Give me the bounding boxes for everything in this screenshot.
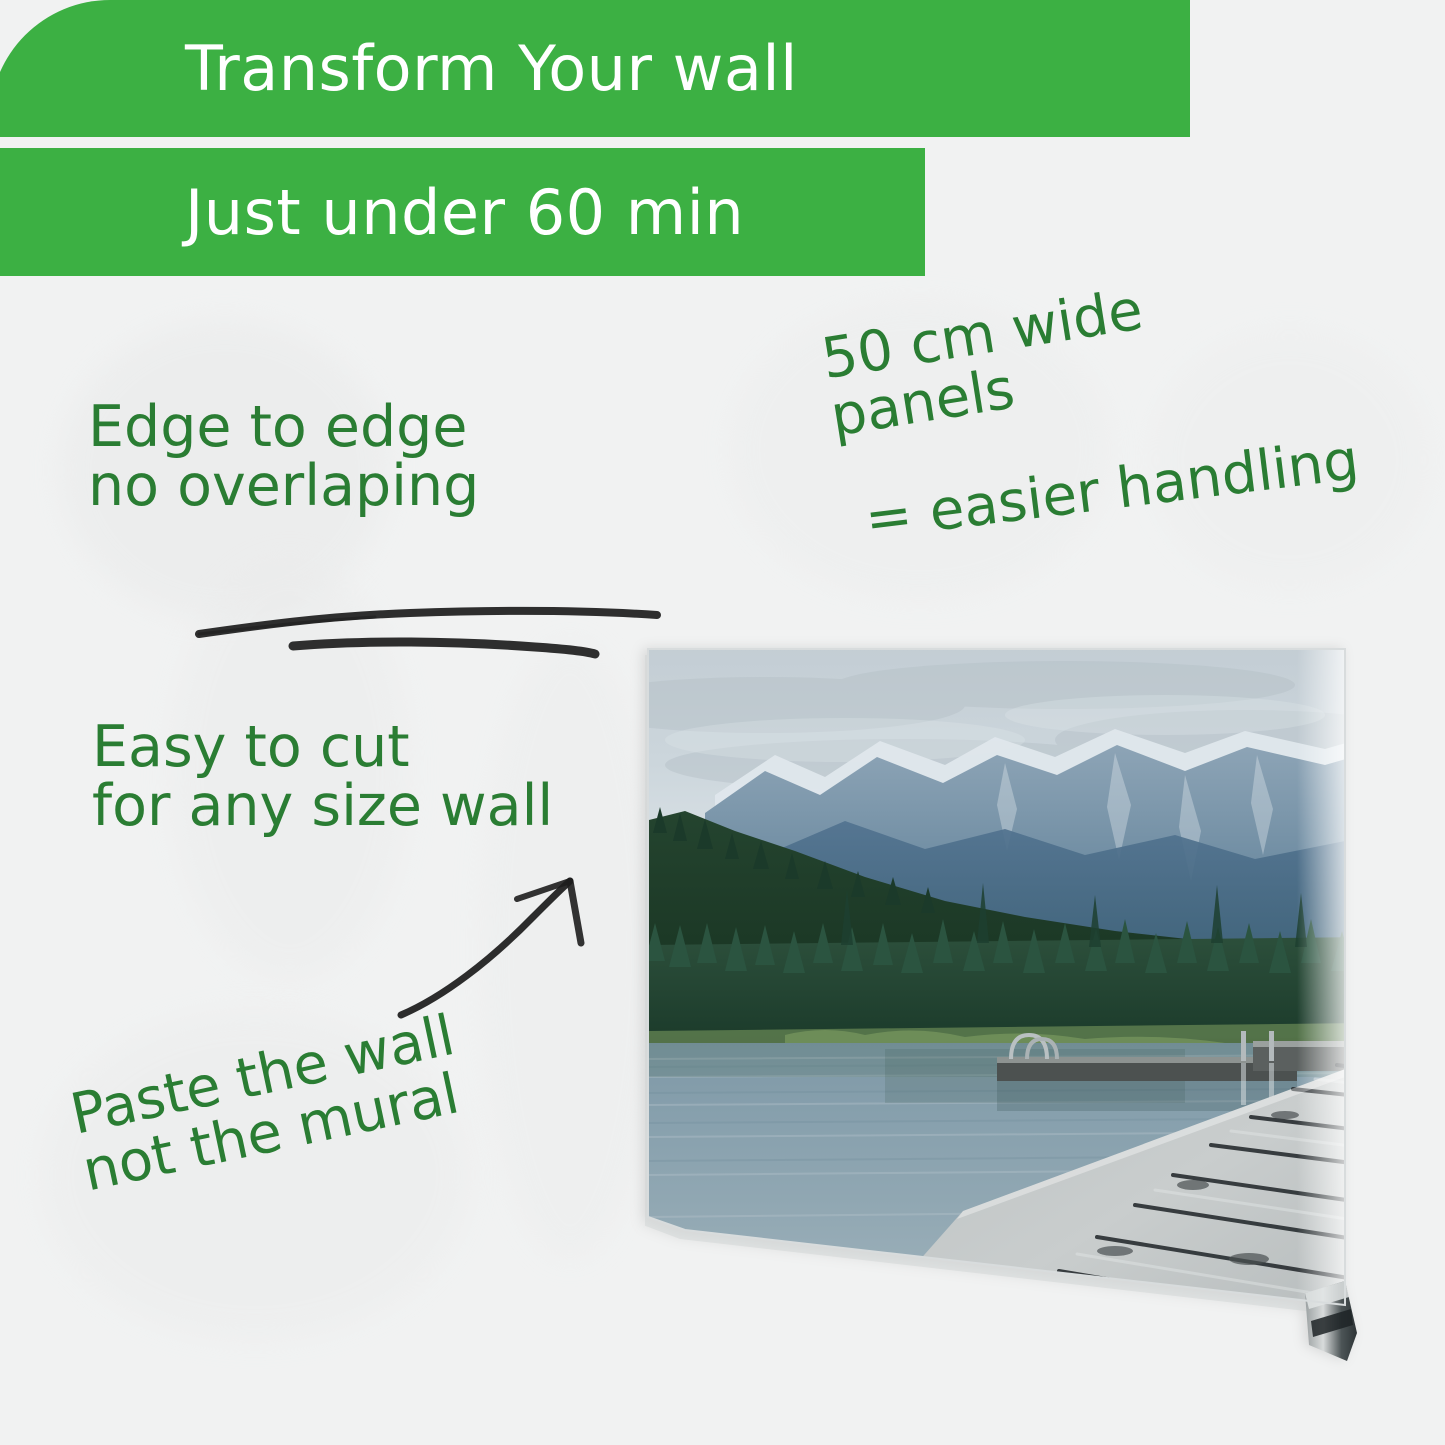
banner-subtitle: Just under 60 min (0, 148, 925, 276)
feature-50cm-panels: 50 cm wide panels (818, 281, 1156, 447)
banner-title: Transform Your wall (0, 0, 1190, 137)
infographic-root: Transform Your wall Just under 60 min Ed… (0, 0, 1445, 1445)
mural-curl (1305, 1281, 1357, 1361)
arrow-up-right-icon (395, 865, 625, 1025)
underline-mark-icon (195, 588, 665, 668)
banner-title-text: Transform Your wall (185, 32, 798, 105)
feature-easy-to-cut: Easy to cut for any size wall (92, 718, 553, 837)
mural-photo (645, 645, 1367, 1445)
feature-paste-the-wall: Paste the wall not the mural (66, 1007, 472, 1202)
feature-edge-to-edge: Edge to edge no overlaping (88, 398, 479, 517)
banner-subtitle-text: Just under 60 min (185, 176, 744, 249)
feature-easier-handling: = easier handling (862, 431, 1362, 549)
mural-scene (645, 645, 1367, 1445)
